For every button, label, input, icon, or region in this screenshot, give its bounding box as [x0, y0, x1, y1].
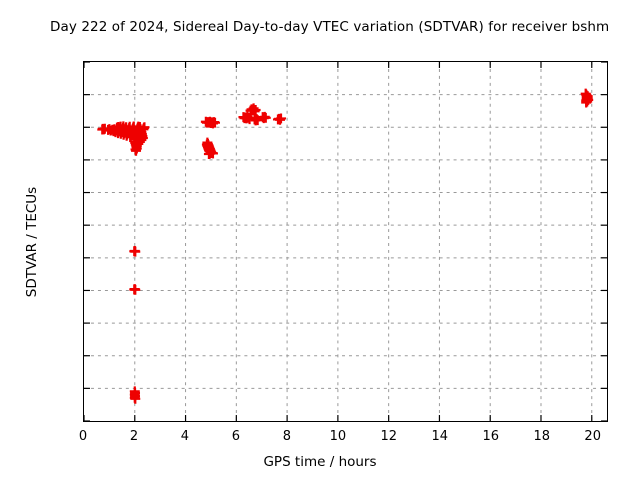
x-tick-label: 8: [283, 429, 291, 444]
chart-title: Day 222 of 2024, Sidereal Day-to-day VTE…: [50, 19, 609, 35]
x-tick-label: 16: [482, 429, 499, 444]
chart-figure: Day 222 of 2024, Sidereal Day-to-day VTE…: [0, 0, 640, 480]
axis-ticks: [84, 62, 607, 421]
x-tick-label: 20: [584, 429, 601, 444]
y-axis-title-wrap: SDTVAR / TECUs: [18, 61, 19, 422]
x-tick-label: 10: [330, 429, 347, 444]
x-tick-label: 12: [381, 429, 398, 444]
x-tick-label: 2: [130, 429, 138, 444]
x-tick-label: 4: [181, 429, 189, 444]
x-tick-label: 0: [79, 429, 87, 444]
x-tick-label: 18: [533, 429, 550, 444]
x-axis-title: GPS time / hours: [0, 454, 640, 470]
x-tick-label: 14: [432, 429, 449, 444]
x-tick-label: 6: [232, 429, 240, 444]
y-axis-title: SDTVAR / TECUs: [24, 132, 40, 352]
plot-area: [83, 61, 608, 422]
